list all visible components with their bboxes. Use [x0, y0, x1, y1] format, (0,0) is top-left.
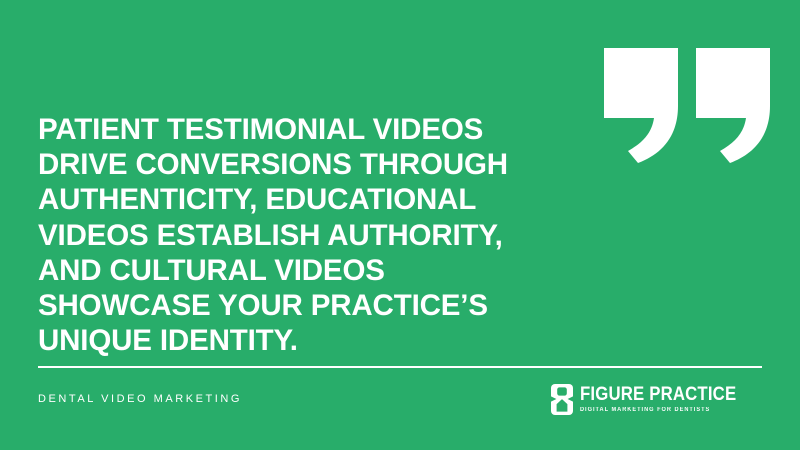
footer-divider	[38, 366, 762, 368]
page-title: PATIENT TESTIMONIAL VIDEOS DRIVE CONVERS…	[38, 112, 558, 358]
figure-eight-logo-icon	[551, 384, 573, 415]
footer-eyebrow-label: DENTAL VIDEO MARKETING	[38, 393, 242, 405]
closing-double-quote-icon	[600, 44, 780, 164]
quote-card-slide: PATIENT TESTIMONIAL VIDEOS DRIVE CONVERS…	[0, 0, 800, 450]
logo-name: FIGURE PRACTICE	[580, 385, 736, 405]
logo-wordmark: FIGURE PRACTICE DIGITAL MARKETING FOR DE…	[580, 385, 762, 414]
footer: DENTAL VIDEO MARKETING FIGURE PRACTICE D…	[38, 378, 762, 420]
logo-tagline: DIGITAL MARKETING FOR DENTISTS	[580, 407, 751, 413]
brand-logo: FIGURE PRACTICE DIGITAL MARKETING FOR DE…	[551, 382, 762, 416]
